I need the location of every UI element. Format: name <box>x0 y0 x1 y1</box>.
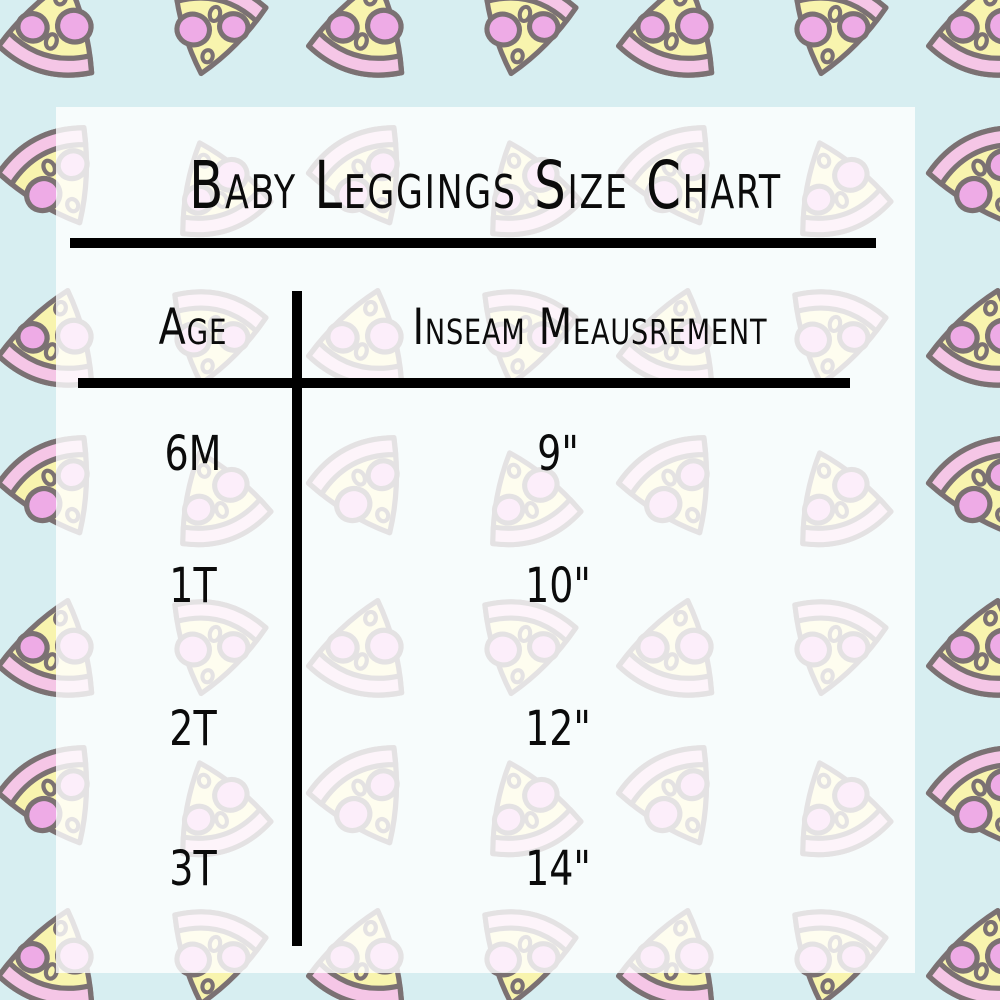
table-row: 2T <box>118 703 268 755</box>
column-header-inseam: Inseam Meausrement <box>366 300 813 354</box>
table-row: 14" <box>483 843 633 895</box>
table-row: 12" <box>483 703 633 755</box>
table-row: 10" <box>483 560 633 612</box>
page-title: Baby Leggings Size Chart <box>125 150 847 222</box>
column-header-age: Age <box>118 300 268 354</box>
table-row: 3T <box>118 843 268 895</box>
header-divider <box>78 378 850 388</box>
column-divider <box>292 291 302 946</box>
table-row: 9" <box>483 428 633 480</box>
title-divider <box>70 238 876 248</box>
table-row: 1T <box>118 560 268 612</box>
table-row: 6M <box>118 428 268 480</box>
size-chart-image: Baby Leggings Size Chart Age Inseam Meau… <box>0 0 1000 1000</box>
